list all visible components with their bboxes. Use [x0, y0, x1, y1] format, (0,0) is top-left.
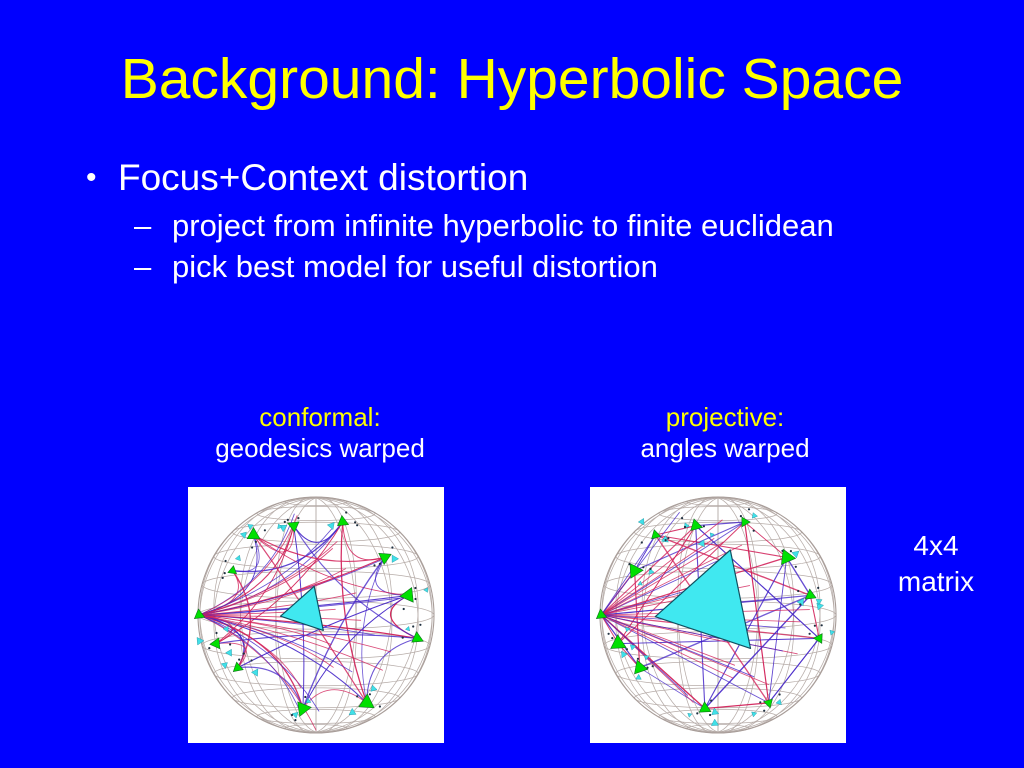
bullet-item-level2: – pick best model for useful distortion	[134, 248, 912, 286]
slide-title: Background: Hyperbolic Space	[0, 48, 1024, 110]
side-note-line2: matrix	[856, 564, 1016, 600]
slide-canvas: Background: Hyperbolic Space • Focus+Con…	[0, 0, 1024, 768]
bullet-item-level1: • Focus+Context distortion	[76, 155, 956, 201]
bullet-text: Focus+Context distortion	[118, 157, 528, 198]
figure-caption-sub: angles warped	[575, 433, 875, 464]
bullet-text: pick best model for useful distortion	[172, 249, 658, 284]
bullet-marker-dash-icon: –	[134, 207, 151, 245]
side-note-matrix: 4x4 matrix	[856, 528, 1016, 600]
figure-image-projective	[590, 487, 846, 743]
slide-body: • Focus+Context distortion – project fro…	[76, 155, 956, 289]
hyperbolic-graph-conformal-svg	[188, 487, 444, 743]
bullet-item-level2: – project from infinite hyperbolic to fi…	[134, 207, 912, 245]
bullet-text: project from infinite hyperbolic to fini…	[172, 208, 834, 243]
figure-caption-head: projective:	[575, 402, 875, 433]
figure-caption-projective: projective: angles warped	[575, 402, 875, 464]
figure-image-conformal	[188, 487, 444, 743]
bullet-marker-dash-icon: –	[134, 248, 151, 286]
figure-caption-conformal: conformal: geodesics warped	[166, 402, 474, 464]
hyperbolic-graph-projective-svg	[590, 487, 846, 743]
side-note-line1: 4x4	[856, 528, 1016, 564]
figure-caption-sub: geodesics warped	[166, 433, 474, 464]
figure-caption-head: conformal:	[166, 402, 474, 433]
bullet-marker-dot-icon: •	[86, 155, 97, 201]
